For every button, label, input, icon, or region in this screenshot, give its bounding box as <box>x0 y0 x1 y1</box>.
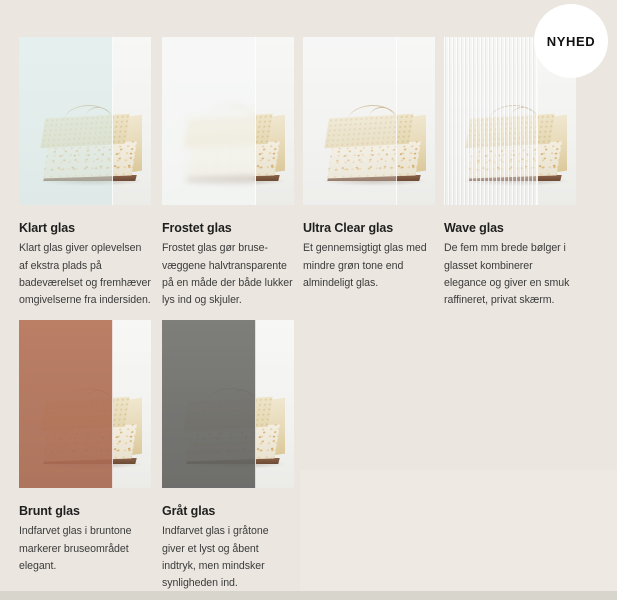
glass-card-title: Ultra Clear glas <box>303 221 435 235</box>
glass-pane-overlay <box>444 37 538 205</box>
glass-card-image[interactable] <box>19 320 151 488</box>
glass-pane-overlay <box>19 320 113 488</box>
glass-card-title: Wave glas <box>444 221 576 235</box>
glass-card-image[interactable] <box>162 37 294 205</box>
glass-card-image[interactable] <box>162 320 294 488</box>
glass-card-title: Klart glas <box>19 221 151 235</box>
glass-card-title: Gråt glas <box>162 504 294 518</box>
glass-card-frostet-glas[interactable]: Frostet glas Frostet glas gør bruse-vægg… <box>162 37 294 309</box>
glass-card-description: Et gennemsigtigt glas med mindre grøn to… <box>303 240 435 291</box>
glass-card-description: Frostet glas gør bruse-væggene halvtrans… <box>162 240 294 309</box>
glass-card-title: Brunt glas <box>19 504 151 518</box>
glass-card-description: De fem mm brede bølger i glasset kombine… <box>444 240 576 309</box>
glass-pane-overlay <box>303 37 397 205</box>
glass-card-graat-glas[interactable]: Gråt glas Indfarvet glas i gråtone giver… <box>162 320 294 592</box>
glass-card-brunt-glas[interactable]: Brunt glas Indfarvet glas i bruntone mar… <box>19 320 151 575</box>
glass-pane-overlay <box>162 320 256 488</box>
glass-options-grid: Klart glas Klart glas giver oplevelsen a… <box>0 0 617 600</box>
glass-pane-overlay <box>19 37 113 205</box>
glass-card-wave-glas[interactable]: Wave glas De fem mm brede bølger i glass… <box>444 37 576 309</box>
glass-card-image[interactable] <box>303 37 435 205</box>
glass-pane-overlay <box>162 37 256 205</box>
glass-card-description: Indfarvet glas i gråtone giver et lyst o… <box>162 523 294 592</box>
glass-card-description: Indfarvet glas i bruntone markerer bruse… <box>19 523 151 574</box>
glass-card-ultra-clear-glas[interactable]: Ultra Clear glas Et gennemsigtigt glas m… <box>303 37 435 292</box>
glass-card-title: Frostet glas <box>162 221 294 235</box>
glass-card-description: Klart glas giver oplevelsen af ekstra pl… <box>19 240 151 309</box>
glass-card-image[interactable] <box>19 37 151 205</box>
glass-card-klart-glas[interactable]: Klart glas Klart glas giver oplevelsen a… <box>19 37 151 309</box>
new-badge-label: NYHED <box>547 34 596 49</box>
new-badge: NYHED <box>534 4 608 78</box>
